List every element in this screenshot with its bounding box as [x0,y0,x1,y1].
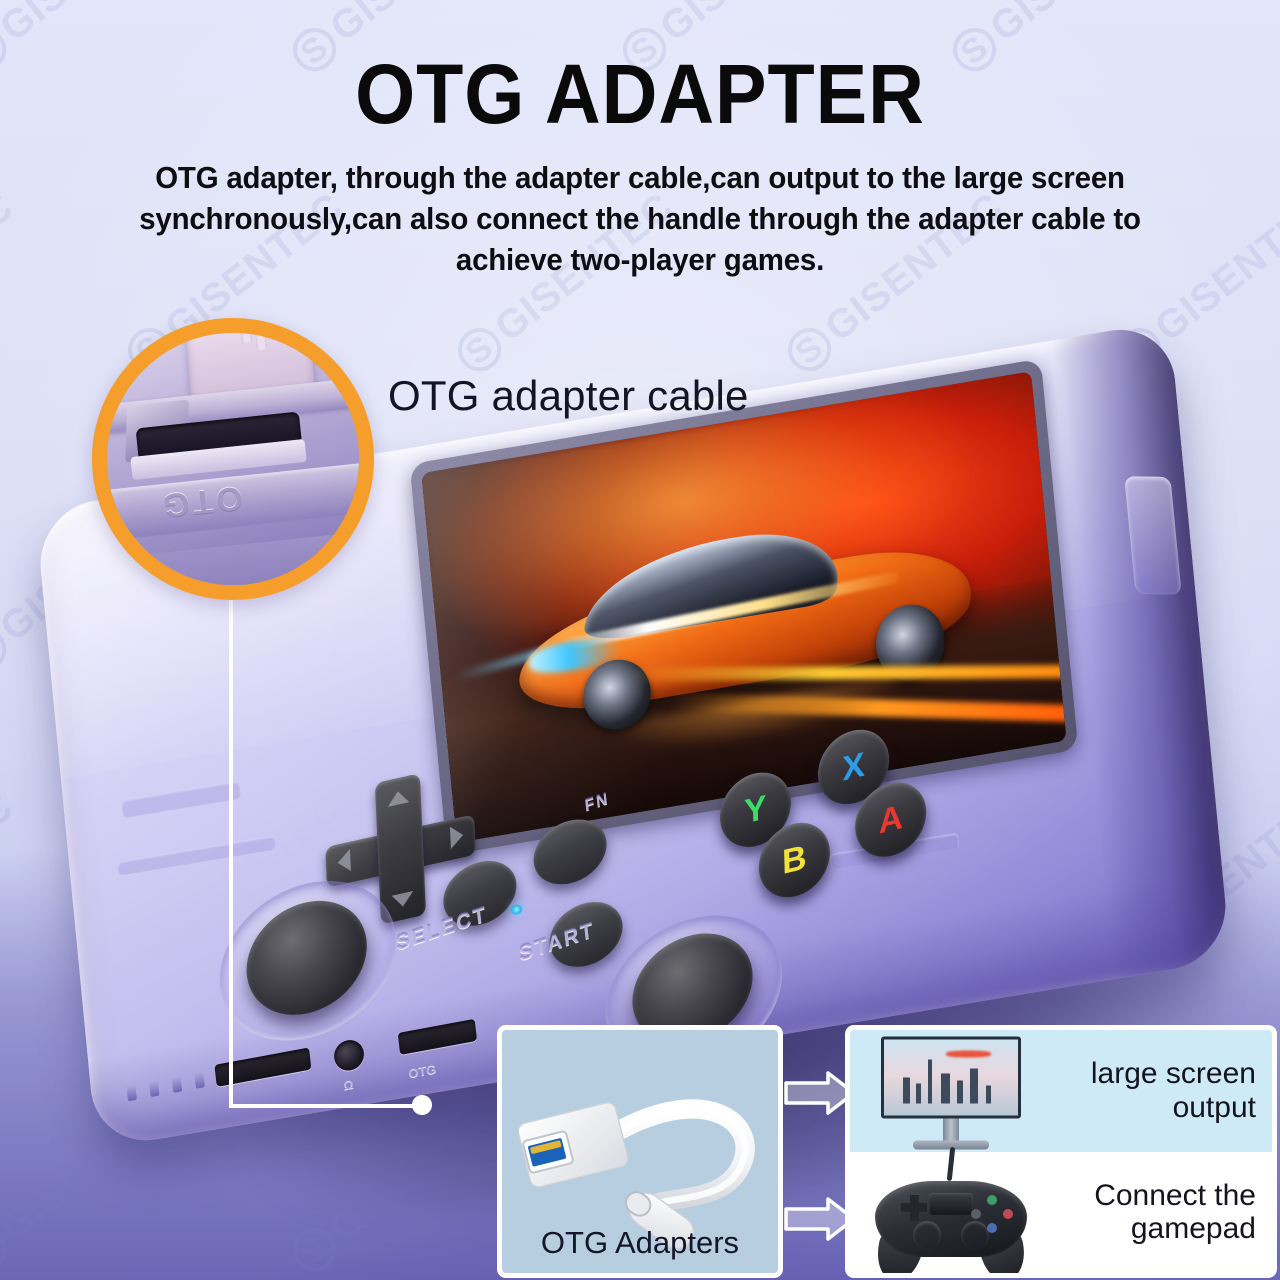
pin [126,1084,137,1102]
gamepad-dpad-icon [901,1195,927,1221]
connect-gamepad-row: Connect the gamepad [850,1152,1272,1274]
connector-notch [240,318,252,344]
monitor-screen [881,1037,1021,1119]
gamepad-stick-right [961,1221,989,1249]
otg-usb-c-port [398,1019,477,1055]
gamepad-art [850,1152,1053,1274]
large-screen-output-row: large screen output [850,1030,1272,1152]
skyline-building [916,1084,921,1104]
otg-adapter-cable-label: OTG adapter cable [388,372,749,420]
game-speed-streak [629,665,1067,681]
skyline-building [941,1073,950,1103]
large-screen-output-line1: large screen [1053,1057,1256,1091]
callout-leader-endpoint [412,1095,432,1115]
pin-row [126,1071,205,1101]
pin [194,1071,205,1089]
internal-part [117,835,276,875]
callout-photo: OTG [92,318,374,600]
monitor-stand [943,1119,959,1141]
callout-leader-line-horizontal [229,1104,425,1108]
connector-notch [255,327,267,351]
gamepad-button [987,1195,997,1205]
otg-adapters-label: OTG Adapters [502,1225,778,1261]
monitor-sun [946,1050,992,1057]
connect-gamepad-text: Connect the gamepad [1053,1179,1272,1246]
connect-gamepad-line1: Connect the [1053,1179,1256,1213]
monitor-art [850,1030,1053,1152]
otg-adapters-panel: OTG Adapters [497,1025,783,1278]
header: OTG ADAPTER OTG adapter, through the ada… [0,0,1280,282]
pin [149,1080,160,1098]
otg-port-zoom-callout: OTG [92,318,374,600]
skyline-building [986,1085,991,1103]
gamepad-icon [875,1163,1027,1267]
callout-leader-line-vertical [229,598,233,1108]
internal-part [121,781,241,819]
monitor-icon [881,1037,1021,1150]
gamepad-cord [947,1147,956,1181]
gamepad-stick-left [913,1221,941,1249]
skyline-tower [928,1059,932,1103]
output-options-panel: large screen output Connect the g [845,1025,1277,1278]
large-screen-output-text: large screen output [1053,1057,1272,1124]
gamepad-button [971,1209,981,1219]
dpad-right-icon [450,824,464,849]
pin [172,1075,183,1093]
callout-otg-emboss: OTG [158,477,244,524]
gamepad-button [1003,1209,1013,1219]
connect-gamepad-line2: gamepad [1053,1212,1256,1246]
gamepad-touchpad [929,1193,973,1215]
page-title: OTG ADAPTER [51,52,1229,136]
dpad-left-icon [337,849,351,874]
otg-port-label: OTG [408,1061,437,1081]
skyline-building [970,1069,978,1104]
skyline-building [957,1081,963,1104]
large-screen-output-line2: output [1053,1091,1256,1125]
jack-label: Ω [343,1076,355,1093]
page-description: OTG adapter, through the adapter cable,c… [103,158,1176,282]
skyline-building [903,1078,910,1104]
headphone-jack-port [333,1038,366,1073]
